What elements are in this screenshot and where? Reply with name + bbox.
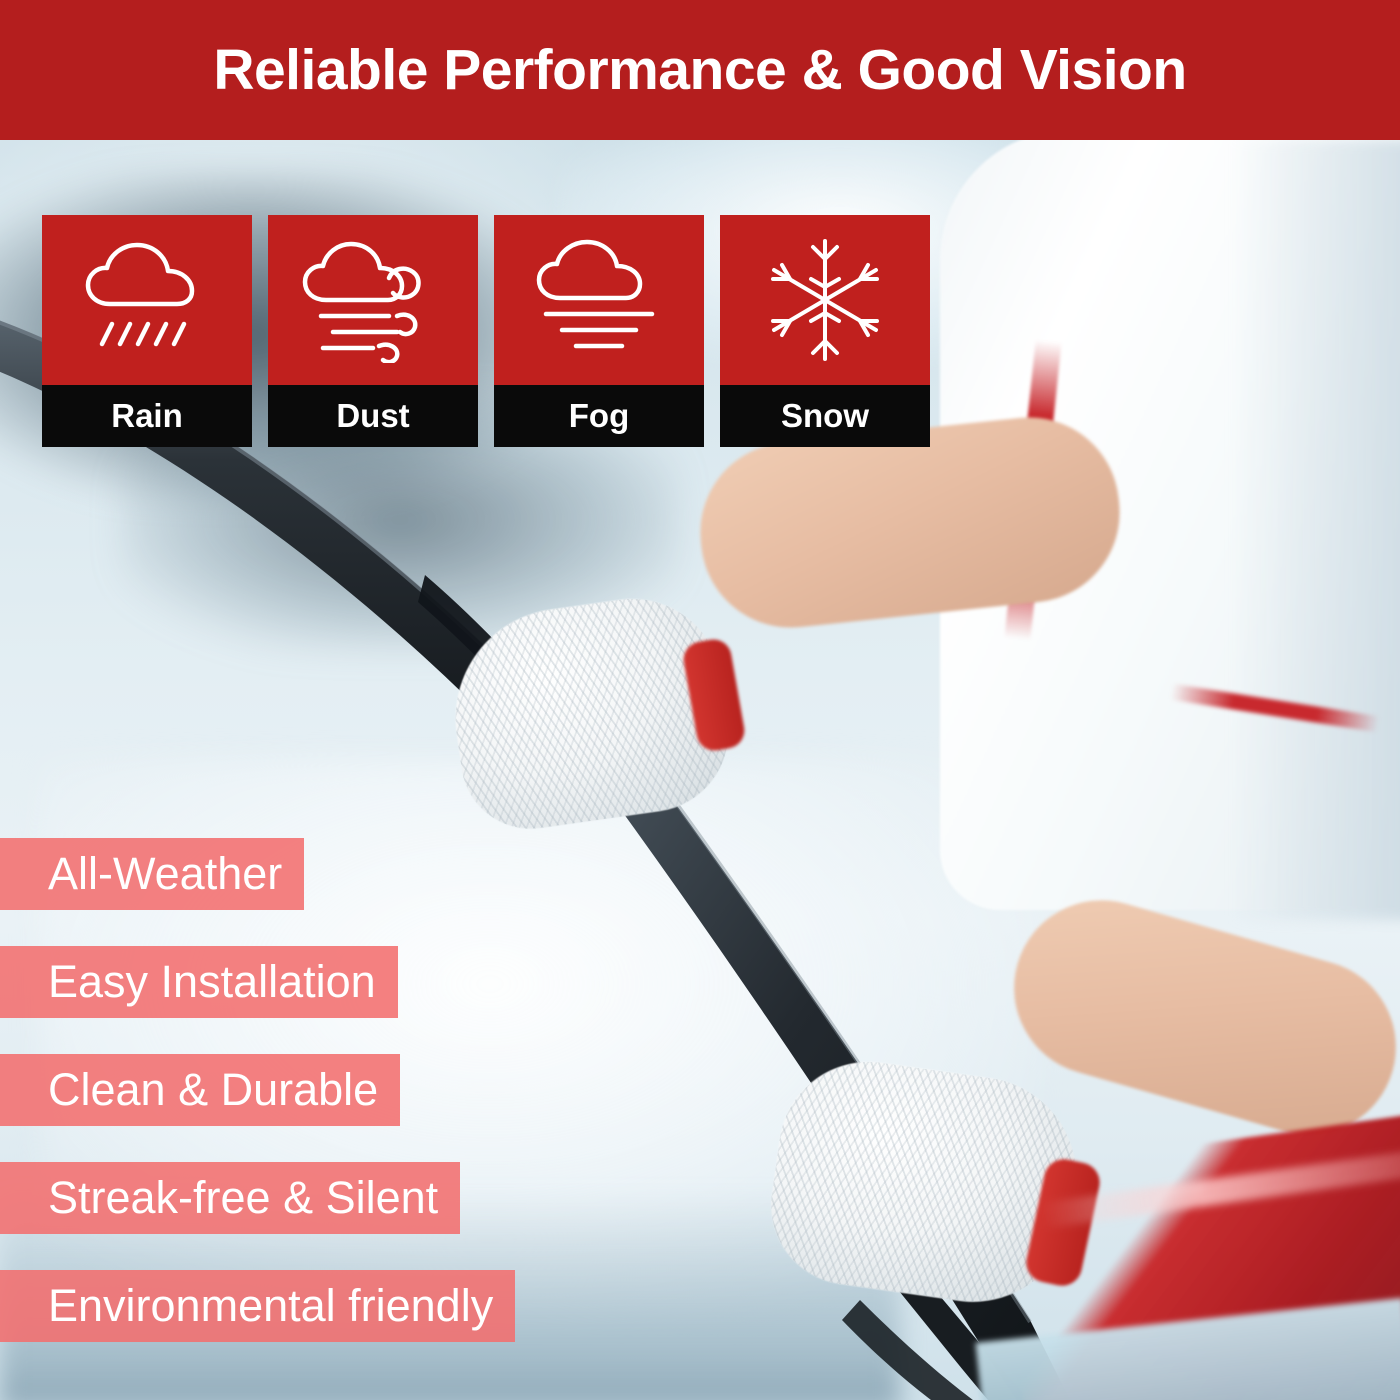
- rain-icon-panel: [42, 215, 252, 385]
- fog-icon-panel: [494, 215, 704, 385]
- feature-card-rain: Rain: [42, 215, 252, 447]
- feature-label-dust: Dust: [268, 385, 478, 447]
- product-infographic: Reliable Performance & Good Vision Rain: [0, 0, 1400, 1400]
- feature-card-snow: Snow: [720, 215, 930, 447]
- benefit-item: Streak-free & Silent: [0, 1162, 460, 1234]
- feature-card-list: Rain Dust: [42, 215, 930, 447]
- rain-cloud-icon: [72, 238, 222, 363]
- dust-wind-cloud-icon: [293, 238, 453, 363]
- benefit-list: All-Weather Easy Installation Clean & Du…: [0, 838, 515, 1378]
- benefit-item: Environmental friendly: [0, 1270, 515, 1342]
- snowflake-icon: [755, 235, 895, 365]
- feature-label-rain: Rain: [42, 385, 252, 447]
- page-title: Reliable Performance & Good Vision: [213, 37, 1186, 103]
- snow-icon-panel: [720, 215, 930, 385]
- feature-card-dust: Dust: [268, 215, 478, 447]
- header-banner: Reliable Performance & Good Vision: [0, 0, 1400, 140]
- benefit-item: Clean & Durable: [0, 1054, 400, 1126]
- feature-label-snow: Snow: [720, 385, 930, 447]
- fog-cloud-icon: [524, 238, 674, 363]
- coat-shading: [1230, 140, 1400, 920]
- dust-icon-panel: [268, 215, 478, 385]
- benefit-item: All-Weather: [0, 838, 304, 910]
- benefit-item: Easy Installation: [0, 946, 398, 1018]
- feature-card-fog: Fog: [494, 215, 704, 447]
- feature-label-fog: Fog: [494, 385, 704, 447]
